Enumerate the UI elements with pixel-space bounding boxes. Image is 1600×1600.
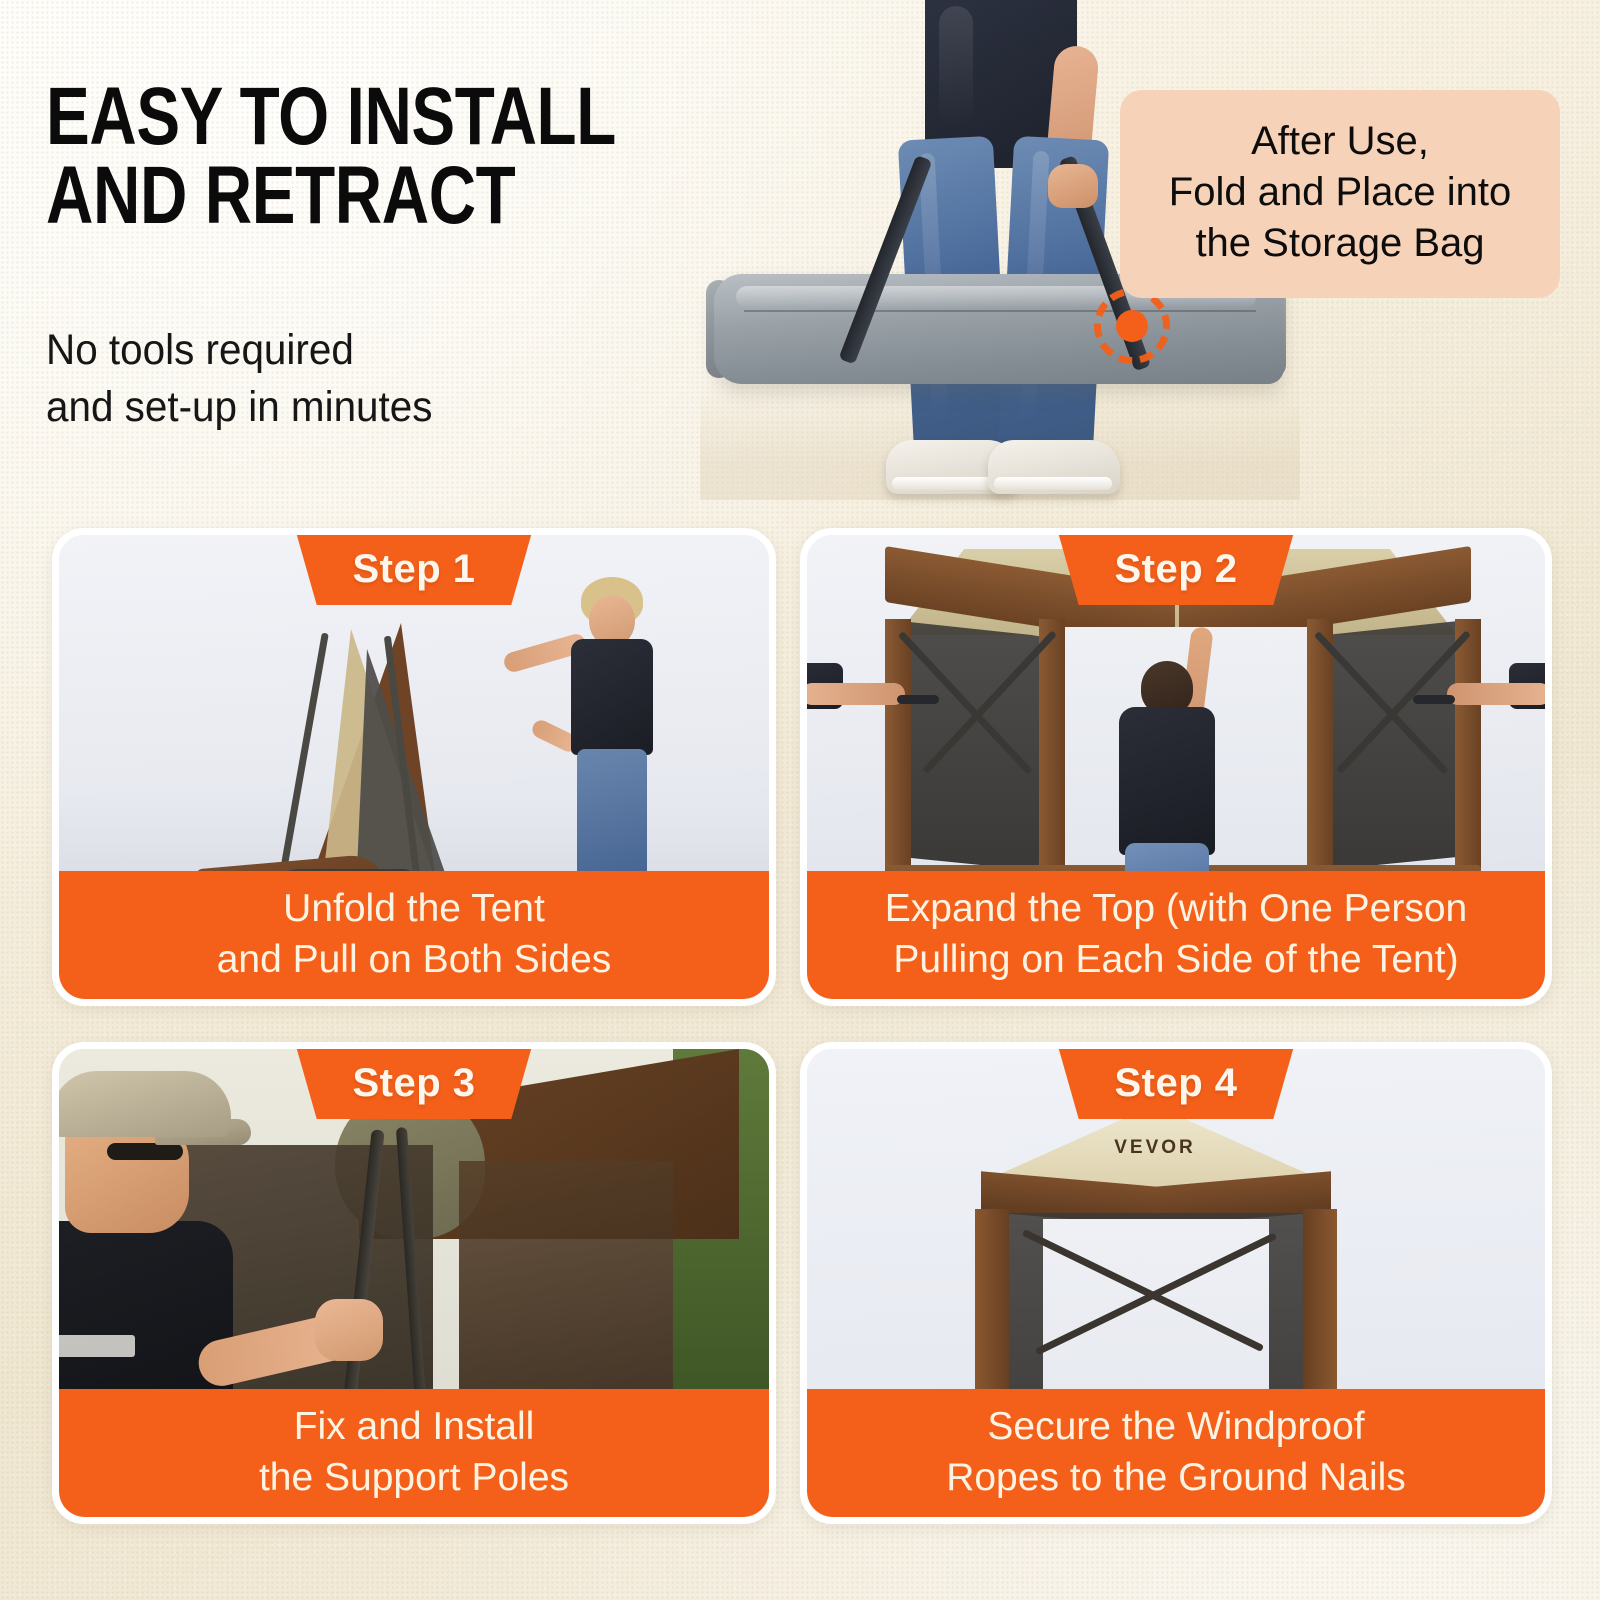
hotspot-dot (1116, 310, 1148, 342)
tent-post-1 (885, 619, 911, 871)
tent-mesh-wall-left (891, 621, 1041, 871)
helper-arm-right (1447, 683, 1545, 705)
helper-arm-left (807, 683, 905, 705)
tent-center-opening (1043, 1219, 1269, 1389)
step-caption-2: Expand the Top (with One Person Pulling … (807, 871, 1545, 999)
tent-mesh-panel (355, 649, 459, 871)
step-card-2[interactable]: Step 2 Expand the Top (with One Person P… (800, 528, 1552, 1006)
tent-post-3 (1307, 619, 1333, 871)
person-expanding-top (1107, 661, 1225, 871)
target-hotspot-icon (1094, 288, 1170, 364)
step-badge-2: Step 2 (1048, 533, 1304, 605)
person-shirt (1119, 707, 1215, 855)
tent-post-4 (1455, 619, 1481, 871)
person-jeans (1125, 843, 1209, 871)
step-caption-3: Fix and Install the Support Poles (59, 1389, 769, 1517)
step-card-4[interactable]: VEVOR Step 4 Secure the Windproof Ropes … (800, 1042, 1552, 1524)
shirt-logo (59, 1335, 135, 1357)
storage-callout: After Use, Fold and Place into the Stora… (1120, 90, 1560, 298)
vevor-logo: VEVOR (1055, 1137, 1255, 1159)
pull-cord-left (897, 695, 939, 704)
step-badge-4: Step 4 (1048, 1047, 1304, 1119)
person-hand-gripping-pole (315, 1299, 383, 1361)
pull-cord-right (1413, 695, 1455, 704)
step-card-1[interactable]: Step 1 Unfold the Tent and Pull on Both … (52, 528, 776, 1006)
tent-post-2 (1039, 619, 1065, 871)
step-badge-3: Step 3 (286, 1047, 542, 1119)
sunglasses-icon (107, 1143, 183, 1160)
tent-partially-unfolded (189, 623, 529, 871)
page-subtitle: No tools required and set-up in minutes (46, 322, 704, 436)
storage-bag-seam (744, 310, 1256, 312)
person-pants (577, 749, 647, 871)
step-badge-1: Step 1 (286, 533, 542, 605)
step-caption-4: Secure the Windproof Ropes to the Ground… (807, 1389, 1545, 1517)
hero-person-hand (1048, 164, 1098, 208)
tent-mesh-right (459, 1161, 673, 1389)
step-caption-1: Unfold the Tent and Pull on Both Sides (59, 871, 769, 999)
hero-shoe-right (988, 440, 1120, 494)
person-shirt (571, 639, 653, 755)
page-title: EASY TO INSTALL AND RETRACT (46, 78, 638, 235)
step-card-3[interactable]: Step 3 Fix and Install the Support Poles (52, 1042, 776, 1524)
baseball-cap (59, 1071, 231, 1137)
tent-column-right (1303, 1209, 1337, 1389)
person-unfolding-tent (555, 577, 675, 871)
